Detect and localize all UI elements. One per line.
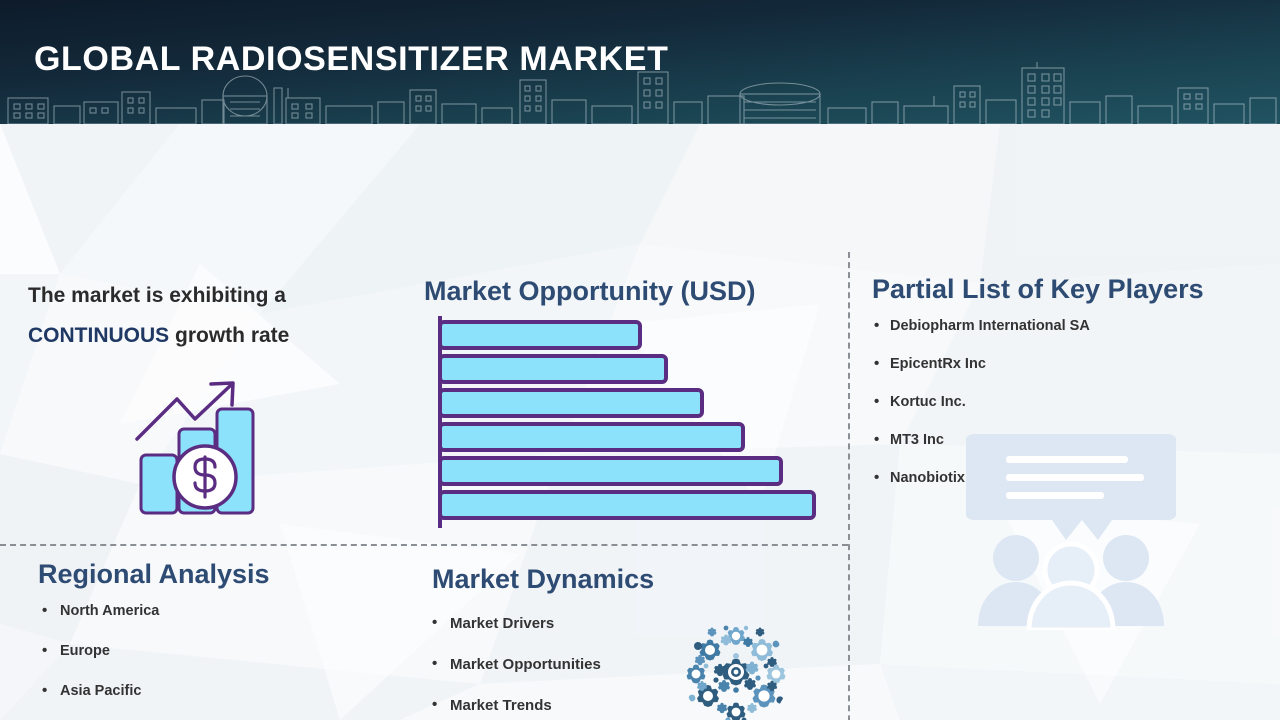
list-item: Europe xyxy=(42,643,215,659)
statement-line2: growth rate xyxy=(169,324,289,347)
list-item: Market Drivers xyxy=(432,615,601,632)
section-title-regional-analysis: Regional Analysis xyxy=(38,561,270,588)
bar-3 xyxy=(440,390,702,416)
page-title: GLOBAL RADIOSENSITIZER MARKET xyxy=(34,42,668,76)
list-item: EpicentRx Inc xyxy=(874,356,1090,372)
market-statement: The market is exhibiting a CONTINUOUS gr… xyxy=(28,276,418,356)
market-dynamics-list: Market Drivers Market Opportunities Mark… xyxy=(432,615,601,720)
section-title-key-players: Partial List of Key Players xyxy=(872,276,1204,303)
bar-4 xyxy=(440,424,743,450)
regional-analysis-list: North America Europe Asia Pacific Latin … xyxy=(42,603,215,720)
bar-2 xyxy=(440,356,666,382)
list-item: Kortuc Inc. xyxy=(874,394,1090,410)
list-item: Asia Pacific xyxy=(42,683,215,699)
bar-5 xyxy=(440,458,781,484)
section-title-market-opportunity: Market Opportunity (USD) xyxy=(424,278,756,305)
statement-highlight: CONTINUOUS xyxy=(28,324,169,347)
chart-bars xyxy=(440,322,814,518)
list-item: Debiopharm International SA xyxy=(874,318,1090,334)
list-item: Market Trends xyxy=(432,697,601,714)
bar-1 xyxy=(440,322,640,348)
page-header: GLOBAL RADIOSENSITIZER MARKET xyxy=(0,0,1280,124)
bar-6 xyxy=(440,492,814,518)
section-title-market-dynamics: Market Dynamics xyxy=(432,566,654,593)
gear-cluster-icon xyxy=(682,620,790,720)
statement-line1: The market is exhibiting a xyxy=(28,284,286,307)
growth-bar-chart-dollar-icon xyxy=(135,377,263,517)
list-item: Market Opportunities xyxy=(432,656,601,673)
market-opportunity-bar-chart xyxy=(436,316,826,528)
vertical-divider xyxy=(848,252,850,720)
list-item: North America xyxy=(42,603,215,619)
horizontal-divider xyxy=(0,544,848,546)
infographic-body: The market is exhibiting a CONTINUOUS gr… xyxy=(0,124,1280,720)
people-speech-bubble-icon xyxy=(966,430,1176,630)
